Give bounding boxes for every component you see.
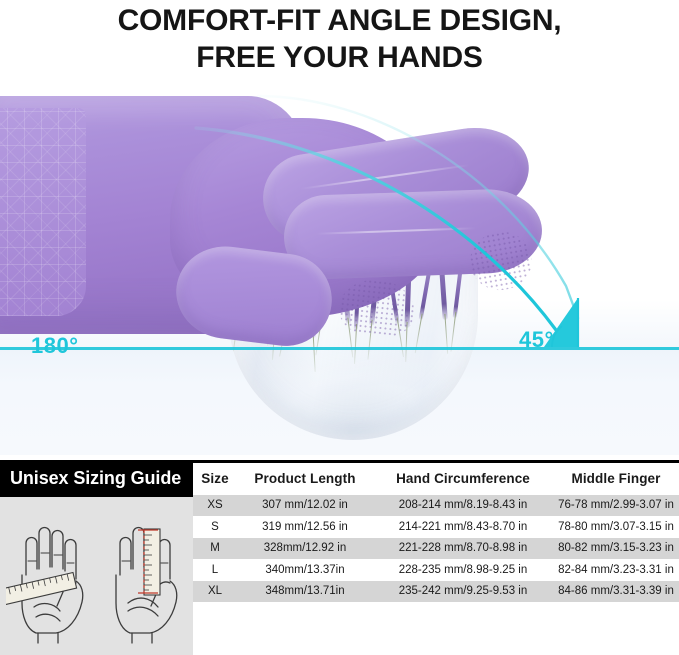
table-row: XS 307 mm/12.02 in 208-214 mm/8.19-8.43 … — [193, 495, 679, 517]
cell-circumference: 221-228 mm/8.70-8.98 in — [373, 538, 553, 560]
cell-length: 328mm/12.92 in — [237, 538, 373, 560]
cell-length: 348mm/13.71in — [237, 581, 373, 603]
sizing-table: Size Product Length Hand Circumference M… — [193, 460, 679, 602]
page-title: COMFORT-FIT ANGLE DESIGN, FREE YOUR HAND… — [0, 2, 679, 76]
glove-cuff-embossed-pattern — [0, 108, 86, 316]
table-row: M 328mm/12.92 in 221-228 mm/8.70-8.98 in… — [193, 538, 679, 560]
cell-middle-finger: 76-78 mm/2.99-3.07 in — [553, 495, 679, 517]
hand-circumference-diagram-icon — [6, 503, 98, 653]
cell-size: M — [193, 538, 237, 560]
cell-length: 307 mm/12.02 in — [237, 495, 373, 517]
hero-image: COMFORT-FIT ANGLE DESIGN, FREE YOUR HAND… — [0, 0, 679, 455]
column-header-length: Product Length — [237, 462, 373, 495]
cell-middle-finger: 80-82 mm/3.15-3.23 in — [553, 538, 679, 560]
product-infographic: COMFORT-FIT ANGLE DESIGN, FREE YOUR HAND… — [0, 0, 679, 655]
table-row: XL 348mm/13.71in 235-242 mm/9.25-9.53 in… — [193, 581, 679, 603]
column-header-circumference: Hand Circumference — [373, 462, 553, 495]
cell-middle-finger: 78-80 mm/3.07-3.15 in — [553, 516, 679, 538]
measurement-illustrations — [0, 497, 193, 655]
cell-middle-finger: 82-84 mm/3.23-3.31 in — [553, 559, 679, 581]
cell-size: L — [193, 559, 237, 581]
column-header-size: Size — [193, 462, 237, 495]
cell-length: 319 mm/12.56 in — [237, 516, 373, 538]
table-header-row: Size Product Length Hand Circumference M… — [193, 462, 679, 495]
cell-size: S — [193, 516, 237, 538]
headline-line-1: COMFORT-FIT ANGLE DESIGN, — [118, 4, 562, 37]
cell-circumference: 235-242 mm/9.25-9.53 in — [373, 581, 553, 603]
cell-size: XL — [193, 581, 237, 603]
table-row: L 340mm/13.37in 228-235 mm/8.98-9.25 in … — [193, 559, 679, 581]
middle-finger-length-diagram-icon — [100, 503, 192, 653]
angle-label-180: 180° — [31, 333, 79, 359]
sizing-guide-panel: Unisex Sizing Guide — [0, 460, 193, 655]
sizing-guide-title: Unisex Sizing Guide — [0, 460, 193, 497]
45-degree-wedge — [540, 296, 630, 358]
column-header-middle-finger: Middle Finger — [553, 462, 679, 495]
cell-middle-finger: 84-86 mm/3.31-3.39 in — [553, 581, 679, 603]
sizing-guide-section: Unisex Sizing Guide — [0, 455, 679, 655]
cell-circumference: 214-221 mm/8.43-8.70 in — [373, 516, 553, 538]
cell-circumference: 208-214 mm/8.19-8.43 in — [373, 495, 553, 517]
cell-length: 340mm/13.37in — [237, 559, 373, 581]
cell-circumference: 228-235 mm/8.98-9.25 in — [373, 559, 553, 581]
headline-line-2: FREE YOUR HANDS — [0, 39, 679, 76]
cell-size: XS — [193, 495, 237, 517]
table-row: S 319 mm/12.56 in 214-221 mm/8.43-8.70 i… — [193, 516, 679, 538]
